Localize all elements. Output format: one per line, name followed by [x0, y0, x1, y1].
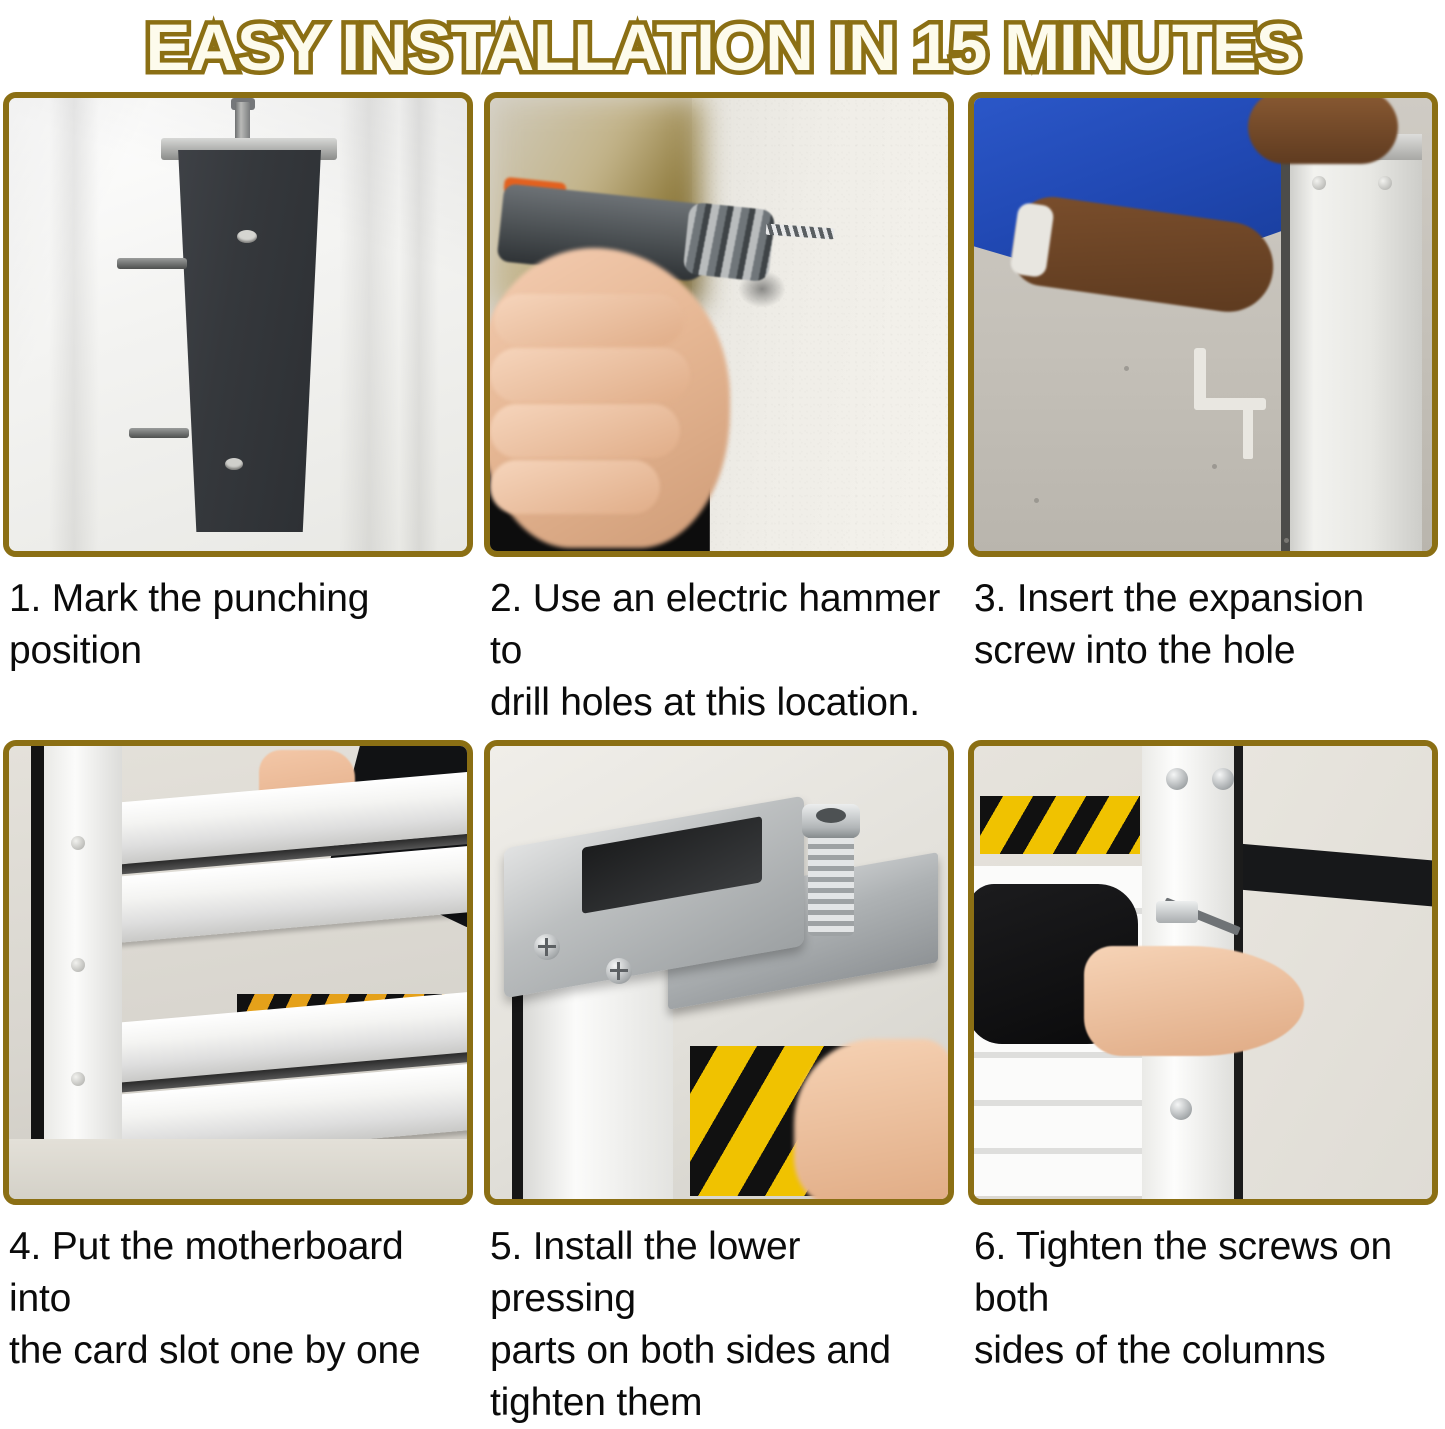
finger [490, 460, 660, 514]
step-card-3: 3. Insert the expansion screw into the h… [968, 92, 1445, 729]
screw-fitting [1156, 901, 1198, 923]
step-card-6: 6. Tighten the screws on both sides of t… [968, 740, 1445, 1429]
post-screw [71, 1072, 85, 1086]
photo-mark-punching-position [3, 92, 473, 557]
photo-canvas-5 [490, 746, 948, 1199]
column-screw [1378, 176, 1392, 190]
hex-key-arm [1194, 398, 1266, 410]
header-banner: EASY INSTALLATION IN 15 MINUTES [0, 0, 1445, 92]
hazard-stripe [980, 796, 1140, 854]
column-screw [1170, 1098, 1192, 1120]
cloth-fold [49, 98, 99, 551]
cloth-fold [339, 98, 399, 551]
photo-canvas-3 [974, 98, 1432, 551]
post-screw [71, 836, 85, 850]
step-caption-2: 2. Use an electric hammer to drill holes… [484, 557, 965, 729]
side-bolt-upper [117, 258, 187, 269]
steps-row-top: 1. Mark the punching position 2. Use an … [0, 92, 1445, 729]
photo-canvas-2 [490, 98, 948, 551]
photo-canvas-4 [9, 746, 467, 1199]
bracket-screw [606, 958, 632, 984]
step-caption-5: 5. Install the lower pressing parts on b… [484, 1205, 965, 1429]
column-screw [1166, 768, 1188, 790]
ground-speck [1284, 538, 1289, 543]
step-card-5: 5. Install the lower pressing parts on b… [484, 740, 965, 1429]
photo-install-pressing-parts [484, 740, 954, 1205]
hand [1084, 946, 1304, 1056]
photo-insert-expansion-screw [968, 92, 1438, 557]
cloth-fold [399, 98, 439, 551]
side-bolt-lower [129, 428, 189, 438]
hand [794, 1039, 948, 1199]
steps-row-bottom: 4. Put the motherboard into the card slo… [0, 740, 1445, 1429]
ground-speck [1034, 498, 1039, 503]
post-screw [71, 958, 85, 972]
finger [490, 348, 690, 402]
upper-hand [1248, 98, 1398, 164]
step-caption-6: 6. Tighten the screws on both sides of t… [968, 1205, 1445, 1377]
step-caption-3: 3. Insert the expansion screw into the h… [968, 557, 1445, 677]
drill-chuck [682, 202, 775, 283]
finger [490, 404, 680, 458]
ground-speck [1212, 464, 1217, 469]
finger [494, 294, 684, 346]
photo-canvas-6 [974, 746, 1432, 1199]
column-post [31, 746, 122, 1199]
aluminium-column [1281, 142, 1422, 551]
column-screw [1312, 176, 1326, 190]
photo-drill-holes [484, 92, 954, 557]
photo-tighten-screws [968, 740, 1438, 1205]
step-card-2: 2. Use an electric hammer to drill holes… [484, 92, 965, 729]
photo-canvas-1 [9, 98, 467, 551]
step-caption-1: 1. Mark the punching position [3, 557, 481, 677]
mounting-hole-upper [237, 230, 257, 243]
photo-insert-boards [3, 740, 473, 1205]
step-caption-4: 4. Put the motherboard into the card slo… [3, 1205, 481, 1377]
textured-wall [692, 98, 948, 551]
mounting-hole-lower [225, 458, 243, 470]
top-stud [235, 102, 250, 142]
step-card-4: 4. Put the motherboard into the card slo… [3, 740, 481, 1429]
ground-speck [1124, 366, 1129, 371]
column-screw [1212, 768, 1234, 790]
page-title: EASY INSTALLATION IN 15 MINUTES [145, 12, 1299, 82]
step-card-1: 1. Mark the punching position [3, 92, 481, 729]
bolt-socket [816, 808, 846, 823]
floor [9, 1139, 467, 1199]
bracket-screw [534, 934, 560, 960]
